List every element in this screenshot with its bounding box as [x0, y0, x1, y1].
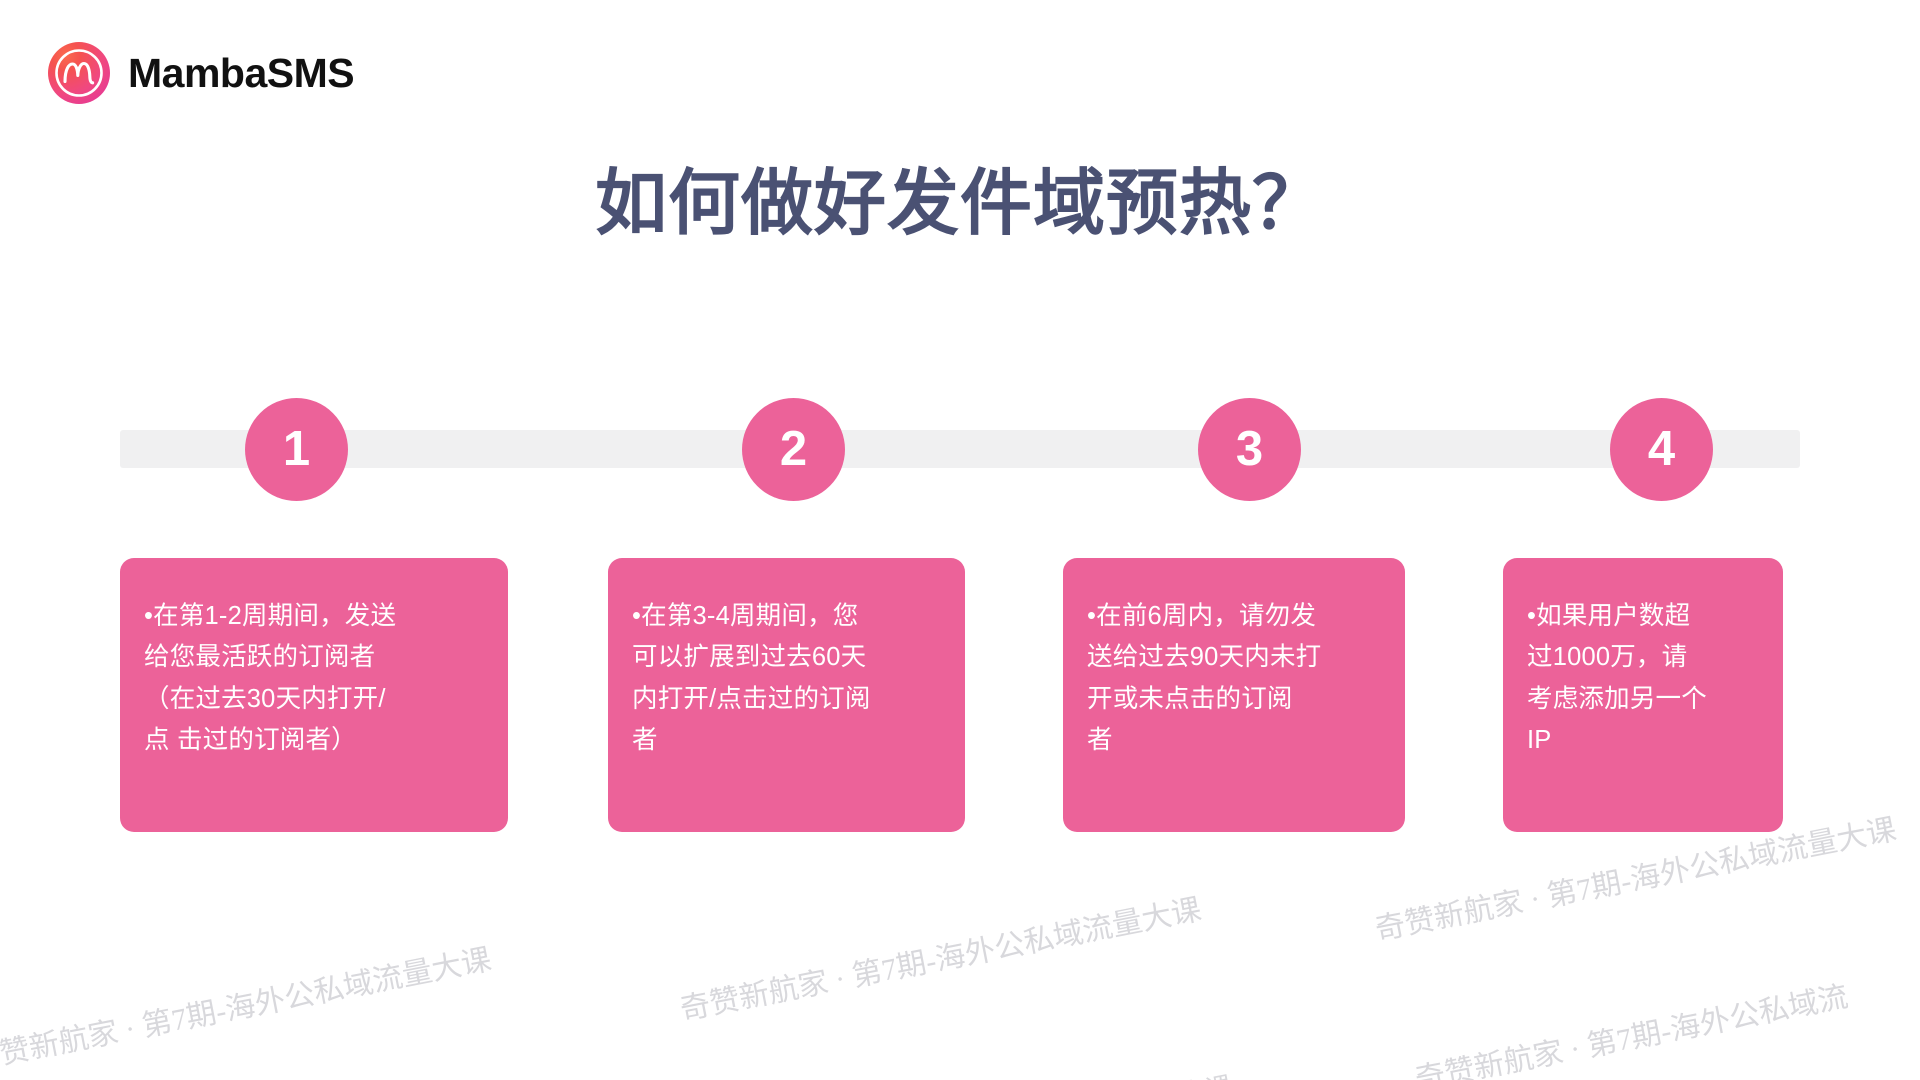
timeline-bar — [120, 430, 1800, 468]
watermark: 奇赞新航家 · 第7期-海外公私域流 — [1411, 971, 1851, 1080]
step-card-2-text: •在第3-4周期间，您 可以扩展到过去60天 内打开/点击过的订阅 者 — [632, 596, 939, 761]
step-card-3: •在前6周内，请勿发 送给过去90天内未打 开或未点击的订阅 者 — [1063, 558, 1405, 832]
step-card-1: •在第1-2周期间，发送 给您最活跃的订阅者 （在过去30天内打开/ 点 击过的… — [120, 558, 508, 832]
brand-name: MambaSMS — [128, 53, 354, 94]
step-card-2: •在第3-4周期间，您 可以扩展到过去60天 内打开/点击过的订阅 者 — [608, 558, 965, 832]
brand-logo-group[interactable]: MambaSMS — [48, 42, 354, 104]
timeline-step-4[interactable]: 4 — [1610, 398, 1713, 501]
watermark: 大课 — [1176, 1065, 1234, 1080]
step-card-4-text: •如果用户数超 过1000万，请 考虑添加另一个 IP — [1527, 596, 1757, 761]
step-number-4: 4 — [1648, 425, 1675, 474]
slide-canvas: MambaSMS 如何做好发件域预热？ 1 2 3 4 •在第1-2周期间，发送… — [0, 0, 1920, 1080]
watermark: 奇赞新航家 · 第7期-海外公私域流量大课 — [0, 934, 494, 1078]
timeline-step-3[interactable]: 3 — [1198, 398, 1301, 501]
timeline-step-2[interactable]: 2 — [742, 398, 845, 501]
step-number-3: 3 — [1236, 425, 1263, 474]
step-card-1-text: •在第1-2周期间，发送 给您最活跃的订阅者 （在过去30天内打开/ 点 击过的… — [144, 596, 482, 761]
page-title: 如何做好发件域预热？ — [0, 165, 1920, 244]
step-card-3-text: •在前6周内，请勿发 送给过去90天内未打 开或未点击的订阅 者 — [1087, 596, 1379, 761]
step-number-2: 2 — [780, 425, 807, 474]
timeline-step-1[interactable]: 1 — [245, 398, 348, 501]
step-number-1: 1 — [283, 425, 310, 474]
watermark: 奇赞新航家 · 第7期-海外公私域流量大课 — [676, 884, 1205, 1028]
step-card-4: •如果用户数超 过1000万，请 考虑添加另一个 IP — [1503, 558, 1783, 832]
mamba-wave-logo-icon — [48, 42, 110, 104]
